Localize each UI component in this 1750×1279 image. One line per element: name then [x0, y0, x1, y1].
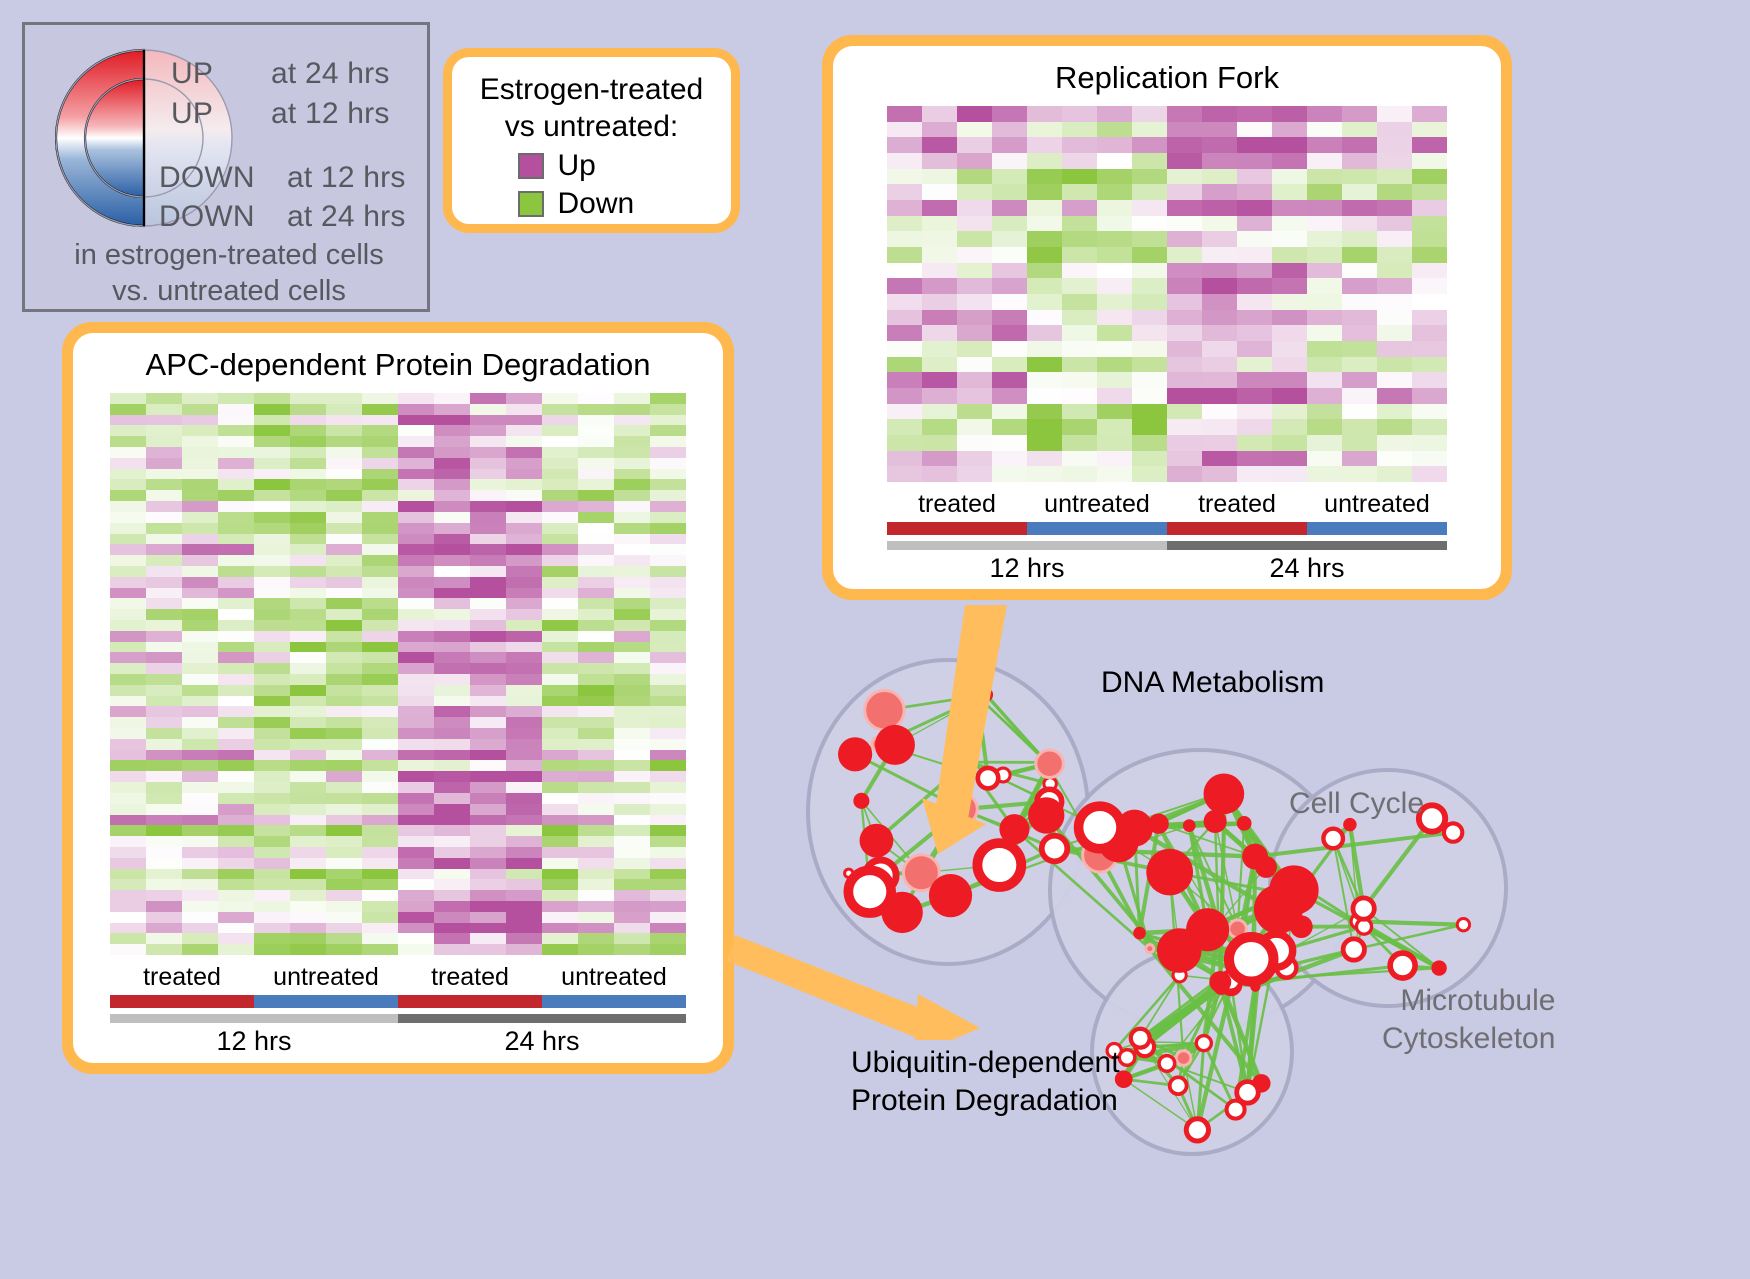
- network-node[interactable]: [1119, 1050, 1135, 1066]
- network-node[interactable]: [963, 758, 971, 766]
- wheel-time-up-24: at 24 hrs: [271, 57, 390, 91]
- network-node[interactable]: [1431, 960, 1446, 975]
- cluster-label-ubiquitin-degradation: Ubiquitin-dependent Protein Degradation: [851, 1044, 1120, 1120]
- cluster-label-cell-cycle: Cell Cycle: [1289, 785, 1424, 823]
- sample-group-bar: [1307, 522, 1447, 535]
- wheel-label-down-24: DOWN: [159, 200, 255, 234]
- network-node[interactable]: [1269, 865, 1318, 914]
- network-node[interactable]: [1079, 806, 1121, 848]
- network-node[interactable]: [1131, 1029, 1150, 1048]
- network-node[interactable]: [1186, 1119, 1208, 1141]
- network-node[interactable]: [1146, 945, 1154, 953]
- sample-group-label: untreated: [1027, 490, 1167, 519]
- network-node[interactable]: [1133, 927, 1146, 940]
- sample-group-label: treated: [1167, 490, 1307, 519]
- sample-group-label: treated: [887, 490, 1027, 519]
- sample-group-bar: [1027, 522, 1167, 535]
- network-node[interactable]: [1343, 939, 1364, 960]
- sample-group-label: untreated: [254, 963, 398, 992]
- network-node[interactable]: [1157, 928, 1202, 973]
- time-group-bar: [1167, 541, 1447, 550]
- network-node[interactable]: [865, 690, 904, 729]
- network-node[interactable]: [1042, 836, 1068, 862]
- network-node[interactable]: [1242, 844, 1268, 870]
- network-node[interactable]: [1444, 823, 1462, 841]
- down-swatch: [518, 191, 544, 217]
- network-node[interactable]: [1183, 819, 1196, 832]
- panel-replication-fork: Replication Fork treateduntreatedtreated…: [822, 35, 1512, 600]
- network-node[interactable]: [1036, 750, 1064, 778]
- network-node[interactable]: [1146, 849, 1193, 896]
- wheel-caption: in estrogen-treated cells vs. untreated …: [25, 237, 433, 309]
- sample-group-label: treated: [110, 963, 254, 992]
- time-group-bar: [887, 541, 1167, 550]
- network-node[interactable]: [977, 843, 1021, 887]
- wheel-time-down-12: at 12 hrs: [287, 161, 406, 195]
- time-group-label: 24 hrs: [398, 1026, 686, 1057]
- panel-apc-degradation: APC-dependent Protein Degradation treate…: [62, 322, 734, 1074]
- network-node[interactable]: [1209, 971, 1231, 993]
- wheel-time-down-24: at 24 hrs: [287, 200, 406, 234]
- cluster-label-dna-metabolism: DNA Metabolism: [1101, 664, 1324, 702]
- network-node[interactable]: [838, 737, 872, 771]
- down-label: Down: [558, 187, 666, 221]
- colour-wheel-legend: UP at 24 hrs UP at 12 hrs DOWN at 12 hrs…: [22, 22, 430, 312]
- heatmap-replication-fork: [887, 106, 1447, 482]
- network-node[interactable]: [860, 824, 894, 858]
- network-node[interactable]: [946, 794, 977, 825]
- sample-group-bar: [254, 995, 398, 1008]
- time-group-label: 12 hrs: [887, 553, 1167, 584]
- network-node[interactable]: [1353, 898, 1374, 919]
- network-node[interactable]: [875, 725, 915, 765]
- network-node[interactable]: [1237, 1082, 1259, 1104]
- sample-group-label: treated: [398, 963, 542, 992]
- key-row-down: Down: [452, 187, 731, 221]
- time-group-label: 12 hrs: [110, 1026, 398, 1057]
- sample-group-bar: [110, 995, 254, 1008]
- sample-group-bar: [398, 995, 542, 1008]
- wheel-label-down-12: DOWN: [159, 161, 255, 195]
- sample-group-bar: [1167, 522, 1307, 535]
- network-node[interactable]: [848, 870, 891, 913]
- sample-strip-apc: treateduntreatedtreateduntreated 12 hrs2…: [110, 963, 686, 1057]
- up-swatch: [518, 153, 544, 179]
- wheel-caption-line2: vs. untreated cells: [25, 273, 433, 309]
- sample-group-bar: [887, 522, 1027, 535]
- network-node[interactable]: [1323, 829, 1343, 849]
- time-group-bar: [398, 1014, 686, 1023]
- network-node[interactable]: [1237, 816, 1252, 831]
- up-label: Up: [558, 149, 666, 183]
- sample-group-bar: [542, 995, 686, 1008]
- network-node[interactable]: [965, 684, 989, 708]
- wheel-label-up-12: UP: [171, 97, 213, 131]
- network-node[interactable]: [1159, 1056, 1175, 1072]
- network-node[interactable]: [1390, 953, 1415, 978]
- time-group-label: 24 hrs: [1167, 553, 1447, 584]
- key-row-up: Up: [452, 149, 731, 183]
- time-group-bar: [110, 1014, 398, 1023]
- key-title-line1: Estrogen-treated: [452, 71, 731, 108]
- panel-title-replication-fork: Replication Fork: [1055, 60, 1279, 96]
- network-node[interactable]: [1204, 773, 1245, 814]
- network-node[interactable]: [1170, 1077, 1187, 1094]
- network-node[interactable]: [1229, 937, 1273, 981]
- network-node[interactable]: [1457, 919, 1469, 931]
- network-node[interactable]: [929, 874, 972, 917]
- cluster-label-microtubule-cytoskeleton: Microtubule Cytoskeleton: [1382, 982, 1555, 1058]
- key-title-line2: vs untreated:: [452, 108, 731, 145]
- heatmap-apc-degradation: [110, 393, 686, 955]
- sample-group-label: untreated: [1307, 490, 1447, 519]
- network-node[interactable]: [1196, 1036, 1211, 1051]
- sample-strip-replication-fork: treateduntreatedtreateduntreated 12 hrs2…: [887, 490, 1447, 584]
- network-node[interactable]: [1028, 797, 1064, 833]
- network-node[interactable]: [1176, 1051, 1191, 1066]
- sample-group-label: untreated: [542, 963, 686, 992]
- wheel-caption-line1: in estrogen-treated cells: [25, 237, 433, 273]
- up-down-legend: Estrogen-treated vs untreated: Up Down: [443, 48, 740, 233]
- network-node[interactable]: [853, 793, 869, 809]
- wheel-time-up-12: at 12 hrs: [271, 97, 390, 131]
- network-node[interactable]: [978, 768, 999, 789]
- wheel-label-up-24: UP: [171, 57, 213, 91]
- panel-title-apc: APC-dependent Protein Degradation: [146, 347, 651, 383]
